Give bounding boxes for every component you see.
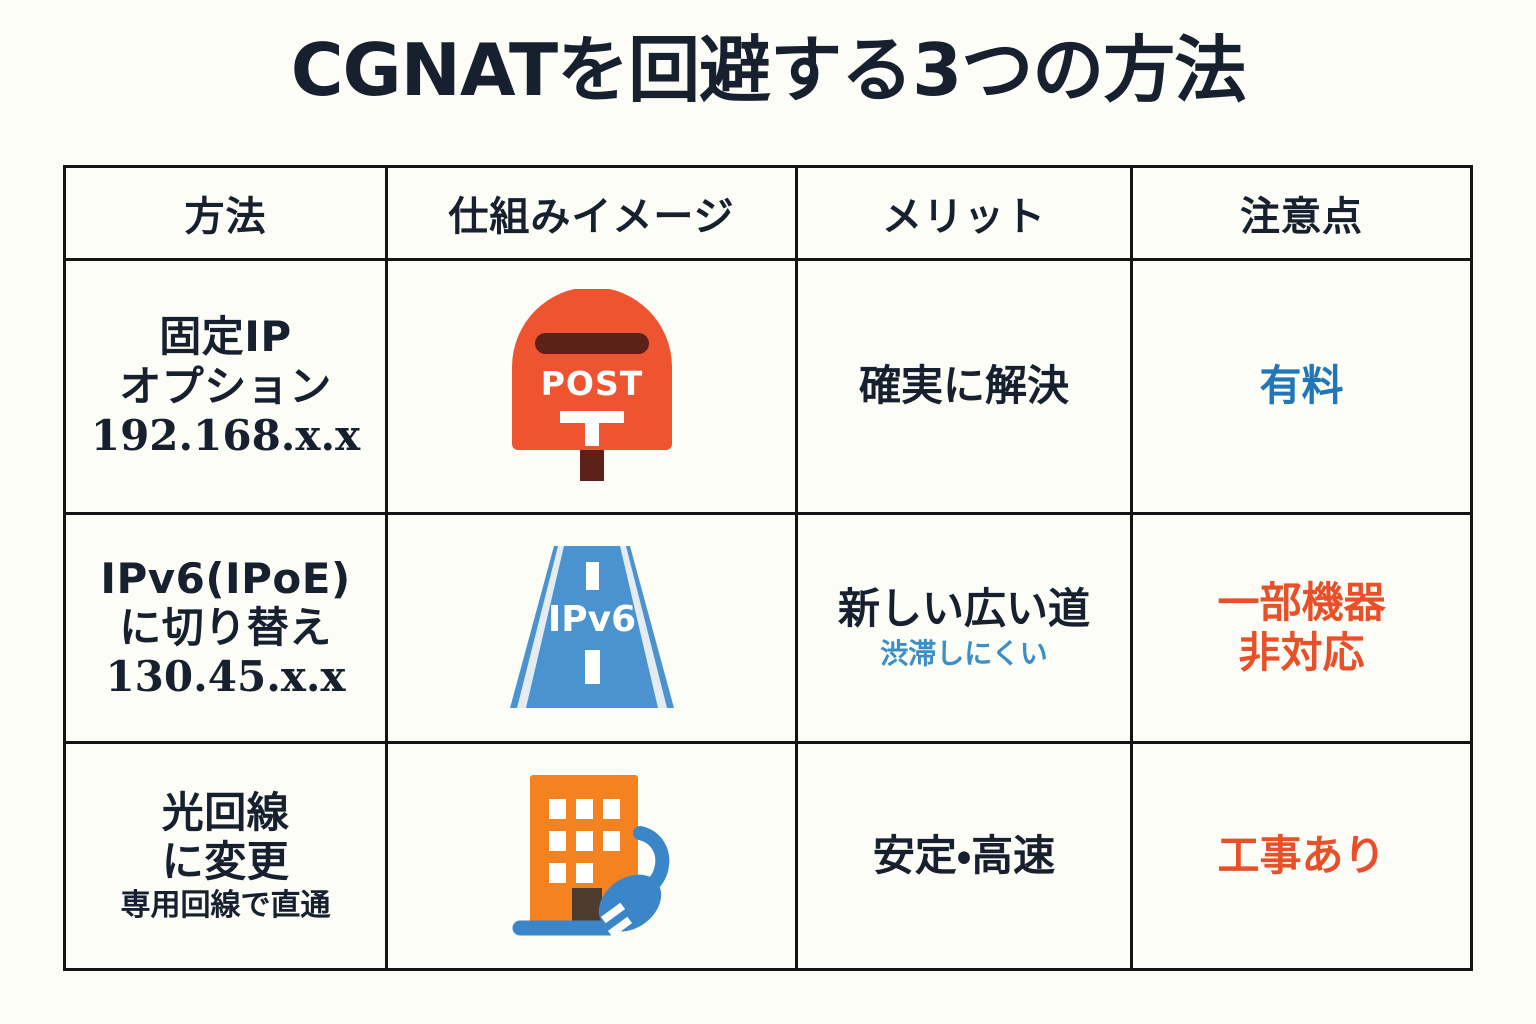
image-cell-1: POST	[388, 261, 798, 512]
merit-main-3: 安定・高速	[873, 832, 1055, 880]
method-cell-2: IPv6(IPoE) に切り替え 130.45.x.x	[66, 515, 388, 741]
table-row: 光回線 に変更 専用回線で直通	[66, 744, 1470, 968]
method-line-1b: オプション	[119, 362, 332, 411]
page-title: CGNATを回避する3つの方法	[0, 34, 1536, 106]
note-line-2a: 一部機器	[1217, 578, 1385, 628]
svg-text:IPv6: IPv6	[547, 599, 635, 640]
method-line-3c: 専用回線で直通	[121, 888, 331, 924]
method-line-1c: 192.168.x.x	[91, 411, 360, 460]
note-line-2b: 非対応	[1238, 628, 1364, 678]
method-cell-3: 光回線 に変更 専用回線で直通	[66, 744, 388, 968]
table-row: 固定IP オプション 192.168.x.x POST	[66, 261, 1470, 515]
table-header-row: 方法 仕組みイメージ メリット 注意点	[66, 168, 1470, 261]
road-ipv6-icon: IPv6	[492, 538, 692, 718]
header-cell-note: 注意点	[1133, 168, 1470, 258]
note-cell-1: 有料	[1133, 261, 1470, 512]
method-cell-1: 固定IP オプション 192.168.x.x	[66, 261, 388, 512]
header-cell-image: 仕組みイメージ	[388, 168, 798, 258]
method-line-2b: に切り替え	[119, 603, 332, 652]
image-cell-3	[388, 744, 798, 968]
merit-cell-2: 新しい広い道 渋滞しにくい	[798, 515, 1133, 741]
merit-sub-2: 渋滞しにくい	[880, 637, 1047, 671]
image-cell-2: IPv6	[388, 515, 798, 741]
merit-cell-1: 確実に解決	[798, 261, 1133, 512]
note-line-1: 有料	[1259, 361, 1343, 411]
note-line-3: 工事あり	[1217, 831, 1385, 881]
table-row: IPv6(IPoE) に切り替え 130.45.x.x	[66, 515, 1470, 744]
header-method-label: 方法	[185, 184, 267, 242]
mailbox-icon: POST	[492, 289, 692, 484]
method-line-3b: に変更	[162, 837, 290, 886]
method-line-2c: 130.45.x.x	[105, 652, 345, 701]
header-merit-label: メリット	[882, 184, 1046, 242]
method-line-3a: 光回線	[162, 788, 290, 837]
header-cell-merit: メリット	[798, 168, 1133, 258]
merit-cell-3: 安定・高速	[798, 744, 1133, 968]
header-image-label: 仕組みイメージ	[448, 184, 734, 242]
svg-text:POST: POST	[540, 364, 643, 403]
header-cell-method: 方法	[66, 168, 388, 258]
method-line-1a: 固定IP	[159, 312, 291, 361]
merit-main-1: 確実に解決	[859, 362, 1069, 410]
methods-table: 方法 仕組みイメージ メリット 注意点 固定IP オプション 192.168.x…	[63, 165, 1473, 971]
infographic-page: CGNATを回避する3つの方法 方法 仕組みイメージ メリット 注意点 固定IP…	[0, 0, 1536, 1024]
building-cable-icon	[492, 763, 692, 948]
note-cell-2: 一部機器 非対応	[1133, 515, 1470, 741]
merit-main-2: 新しい広い道	[838, 585, 1090, 633]
method-line-2a: IPv6(IPoE)	[100, 554, 350, 603]
header-note-label: 注意点	[1240, 184, 1363, 242]
note-cell-3: 工事あり	[1133, 744, 1470, 968]
